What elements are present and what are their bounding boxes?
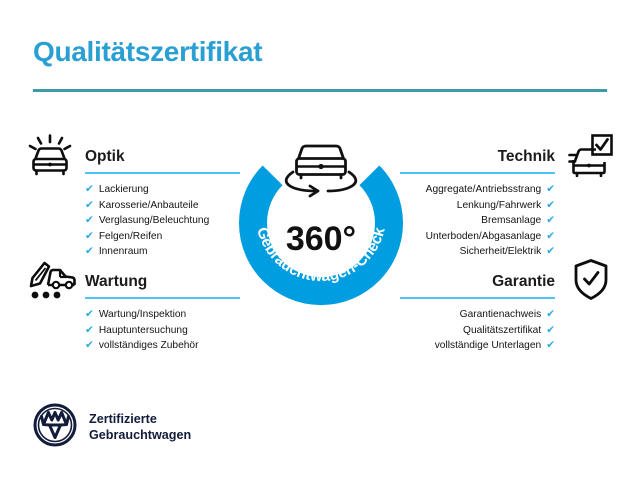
list-item: Sicherheit/Elektrik ✔ [400, 244, 555, 260]
list-item: ✔ Verglasung/Beleuchtung [85, 213, 240, 229]
check-icon: ✔ [85, 244, 94, 260]
list-item-label: Aggregate/Antriebsstrang [426, 182, 542, 198]
section-header-garantie: Garantie [400, 265, 555, 299]
check-icon: ✔ [85, 307, 94, 323]
page-title: Qualitätszertifikat [33, 36, 262, 68]
list-item-label: Felgen/Reifen [99, 229, 162, 245]
list-item-label: vollständige Unterlagen [435, 338, 541, 354]
list-item: Bremsanlage ✔ [400, 213, 555, 229]
vw-footer-text: Zertifizierte Gebrauchtwagen [89, 412, 191, 443]
car-rotate-icon [286, 146, 356, 196]
list-item: ✔ Lackierung [85, 182, 240, 198]
checklist-technik: Aggregate/Antriebsstrang ✔ Lenkung/Fahrw… [400, 182, 555, 260]
check-icon: ✔ [546, 244, 555, 260]
section-title-wartung: Wartung [85, 273, 147, 291]
list-item-label: Lenkung/Fahrwerk [457, 198, 541, 214]
check-icon: ✔ [85, 182, 94, 198]
section-technik: Technik Aggregate/Antriebsstrang ✔ Lenku… [400, 140, 555, 260]
section-title-optik: Optik [85, 148, 125, 166]
title-divider [33, 89, 607, 92]
list-item: Lenkung/Fahrwerk ✔ [400, 198, 555, 214]
section-divider-optik [85, 172, 240, 174]
list-item: ✔ Karosserie/Anbauteile [85, 198, 240, 214]
shield-check-icon [573, 258, 609, 307]
section-divider-wartung [85, 297, 240, 299]
check-icon: ✔ [85, 338, 94, 354]
list-item-label: Unterboden/Abgasanlage [426, 229, 542, 245]
section-divider-garantie [400, 297, 555, 299]
list-item-label: Lackierung [99, 182, 149, 198]
check-icon: ✔ [85, 213, 94, 229]
section-title-technik: Technik [498, 148, 555, 166]
vw-footer-line1: Zertifizierte [89, 412, 191, 428]
list-item: ✔ Innenraum [85, 244, 240, 260]
section-optik: Optik ✔ Lackierung ✔ Karosserie/Anbautei… [85, 140, 240, 260]
list-item-label: Wartung/Inspektion [99, 307, 186, 323]
car-shine-icon [27, 134, 73, 181]
car-wrench-icon [27, 258, 77, 305]
list-item-label: Karosserie/Anbauteile [99, 198, 199, 214]
vw-footer: Zertifizierte Gebrauchtwagen [33, 403, 191, 452]
check-icon: ✔ [85, 323, 94, 339]
badge-center-label: 360° [286, 220, 356, 258]
list-item-label: Sicherheit/Elektrik [460, 244, 542, 260]
check-icon: ✔ [546, 182, 555, 198]
list-item-label: Bremsanlage [481, 213, 541, 229]
section-garantie: Garantie Garantienachweis ✔ Qualitätszer… [400, 265, 555, 354]
list-item-label: Garantienachweis [460, 307, 542, 323]
list-item-label: Innenraum [99, 244, 148, 260]
vw-logo [33, 403, 77, 452]
vw-footer-line2: Gebrauchtwagen [89, 428, 191, 444]
list-item-label: Verglasung/Beleuchtung [99, 213, 209, 229]
section-divider-technik [400, 172, 555, 174]
checklist-optik: ✔ Lackierung ✔ Karosserie/Anbauteile ✔ V… [85, 182, 240, 260]
certificate-page: Qualitätszertifikat Optik ✔ Lackierung ✔… [0, 0, 640, 480]
list-item: ✔ Wartung/Inspektion [85, 307, 240, 323]
list-item: vollständige Unterlagen ✔ [400, 338, 555, 354]
list-item: Unterboden/Abgasanlage ✔ [400, 229, 555, 245]
check-icon: ✔ [546, 229, 555, 245]
check-icon: ✔ [85, 229, 94, 245]
list-item: Aggregate/Antriebsstrang ✔ [400, 182, 555, 198]
gebrauchtwagen-check-badge: 360° Gebrauchtwagen-Check [238, 124, 404, 306]
list-item-label: vollständiges Zubehör [99, 338, 199, 354]
list-item: Qualitätszertifikat ✔ [400, 323, 555, 339]
check-icon: ✔ [546, 338, 555, 354]
car-checkbox-icon [566, 133, 614, 182]
check-icon: ✔ [546, 213, 555, 229]
list-item-label: Qualitätszertifikat [463, 323, 541, 339]
section-title-garantie: Garantie [492, 273, 555, 291]
list-item: ✔ Hauptuntersuchung [85, 323, 240, 339]
check-icon: ✔ [546, 323, 555, 339]
list-item: ✔ vollständiges Zubehör [85, 338, 240, 354]
list-item-label: Hauptuntersuchung [99, 323, 188, 339]
section-header-wartung: Wartung [85, 265, 240, 299]
check-icon: ✔ [546, 198, 555, 214]
check-icon: ✔ [85, 198, 94, 214]
check-icon: ✔ [546, 307, 555, 323]
section-wartung: Wartung ✔ Wartung/Inspektion ✔ Hauptunte… [85, 265, 240, 354]
section-header-optik: Optik [85, 140, 240, 174]
list-item: Garantienachweis ✔ [400, 307, 555, 323]
list-item: ✔ Felgen/Reifen [85, 229, 240, 245]
checklist-wartung: ✔ Wartung/Inspektion ✔ Hauptuntersuchung… [85, 307, 240, 354]
checklist-garantie: Garantienachweis ✔ Qualitätszertifikat ✔… [400, 307, 555, 354]
section-header-technik: Technik [400, 140, 555, 174]
